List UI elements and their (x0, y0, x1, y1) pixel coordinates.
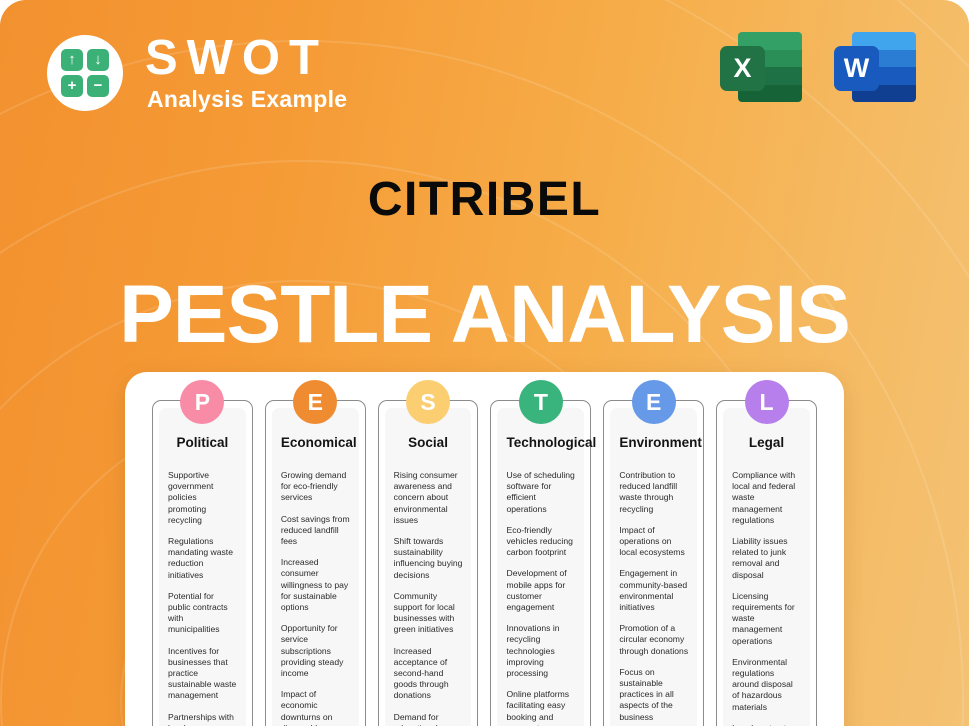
pestle-item: Innovations in recycling technologies im… (506, 623, 575, 679)
pestle-item: Demand for educational resources on wast… (394, 712, 463, 726)
office-icon-group: X W (720, 28, 916, 106)
pestle-column-body: TechnologicalUse of scheduling software … (497, 408, 584, 726)
pestle-item-list: Supportive government policies promoting… (168, 470, 237, 726)
pestle-item: Regulations mandating waste reduction in… (168, 536, 237, 581)
pestle-item: Compliance with local and federal waste … (732, 470, 801, 526)
pestle-column-title: Legal (732, 434, 801, 451)
pestle-column-body: PoliticalSupportive government policies … (159, 408, 246, 726)
excel-icon[interactable]: X (720, 28, 802, 106)
pestle-column-economical[interactable]: EEconomicalGrowing demand for eco-friend… (265, 400, 366, 726)
pestle-item: Environmental regulations around disposa… (732, 657, 801, 713)
pestle-item-list: Use of scheduling software for efficient… (506, 470, 575, 726)
pestle-column-technological[interactable]: TTechnologicalUse of scheduling software… (490, 400, 591, 726)
pestle-column-title: Technological (506, 434, 575, 451)
pestle-column-title: Social (394, 434, 463, 451)
pestle-item: Development of mobile apps for customer … (506, 568, 575, 613)
pestle-item: Promotion of a circular economy through … (619, 623, 688, 657)
pestle-column-environment[interactable]: EEnvironmentContribution to reduced land… (603, 400, 704, 726)
pestle-letter-badge: E (632, 380, 676, 424)
logo-text-block: SWOT Analysis Example (145, 33, 347, 113)
pestle-analysis-page: ↑ ↓ + − SWOT Analysis Example X (0, 0, 969, 726)
pestle-item-list: Growing demand for eco-friendly services… (281, 470, 350, 726)
pestle-item: Incentives for businesses that practice … (168, 646, 237, 702)
logo-icon-grid: ↑ ↓ + − (61, 49, 109, 97)
pestle-item: Online platforms facilitating easy booki… (506, 689, 575, 726)
pestle-column-title: Economical (281, 434, 350, 451)
pestle-column-political[interactable]: PPoliticalSupportive government policies… (152, 400, 253, 726)
logo-subtitle: Analysis Example (147, 86, 347, 113)
pestle-columns: PPoliticalSupportive government policies… (125, 372, 844, 726)
pestle-item-list: Rising consumer awareness and concern ab… (394, 470, 463, 726)
pestle-item: Impact of economic downturns on disposab… (281, 689, 350, 726)
pestle-item: Engagement in community-based environmen… (619, 568, 688, 613)
pestle-letter-badge: P (180, 380, 224, 424)
arrow-up-icon: ↑ (61, 49, 83, 71)
pestle-item: Increased consumer willingness to pay fo… (281, 557, 350, 613)
word-icon[interactable]: W (834, 28, 916, 106)
pestle-item: Liability issues related to junk removal… (732, 536, 801, 581)
pestle-column-legal[interactable]: LLegalCompliance with local and federal … (716, 400, 817, 726)
word-icon-letter: W (834, 46, 879, 91)
pestle-column-title: Political (168, 434, 237, 451)
minus-icon: − (87, 75, 109, 97)
pestle-item: Opportunity for service subscriptions pr… (281, 623, 350, 679)
pestle-item: Cost savings from reduced landfill fees (281, 514, 350, 548)
pestle-column-body: EnvironmentContribution to reduced landf… (610, 408, 697, 726)
pestle-letter-badge: T (519, 380, 563, 424)
pestle-board: PPoliticalSupportive government policies… (125, 372, 844, 726)
pestle-letter-badge: S (406, 380, 450, 424)
pestle-item: Focus on sustainable practices in all as… (619, 667, 688, 723)
pestle-item: Shift towards sustainability influencing… (394, 536, 463, 581)
pestle-item: Use of scheduling software for efficient… (506, 470, 575, 515)
pestle-column-body: SocialRising consumer awareness and conc… (385, 408, 472, 726)
pestle-item: Eco-friendly vehicles reducing carbon fo… (506, 525, 575, 559)
pestle-letter-badge: E (293, 380, 337, 424)
pestle-item-list: Compliance with local and federal waste … (732, 470, 801, 726)
excel-icon-letter: X (720, 46, 765, 91)
company-name: CITRIBEL (0, 172, 969, 227)
plus-icon: + (61, 75, 83, 97)
pestle-item: Rising consumer awareness and concern ab… (394, 470, 463, 526)
pestle-item: Supportive government policies promoting… (168, 470, 237, 526)
pestle-letter-badge: L (745, 380, 789, 424)
pestle-column-title: Environment (619, 434, 688, 451)
pestle-column-social[interactable]: SSocialRising consumer awareness and con… (378, 400, 479, 726)
pestle-item: Impact of operations on local ecosystems (619, 525, 688, 559)
pestle-item: Partnerships with local governments for … (168, 712, 237, 726)
pestle-item-list: Contribution to reduced landfill waste t… (619, 470, 688, 726)
logo-badge-circle: ↑ ↓ + − (47, 35, 123, 111)
pestle-item: Licensing requirements for waste managem… (732, 591, 801, 647)
pestle-item: Community support for local businesses w… (394, 591, 463, 636)
pestle-column-body: LegalCompliance with local and federal w… (723, 408, 810, 726)
pestle-item: Potential for public contracts with muni… (168, 591, 237, 636)
arrow-down-icon: ↓ (87, 49, 109, 71)
pestle-column-body: EconomicalGrowing demand for eco-friendl… (272, 408, 359, 726)
page-title: PESTLE ANALYSIS (0, 270, 969, 360)
page-header: ↑ ↓ + − SWOT Analysis Example X (0, 0, 969, 140)
pestle-item: Growing demand for eco-friendly services (281, 470, 350, 504)
pestle-item: Increased acceptance of second-hand good… (394, 646, 463, 702)
logo-title: SWOT (145, 33, 347, 83)
pestle-item: Contribution to reduced landfill waste t… (619, 470, 688, 515)
swot-logo: ↑ ↓ + − SWOT Analysis Example (47, 33, 347, 113)
